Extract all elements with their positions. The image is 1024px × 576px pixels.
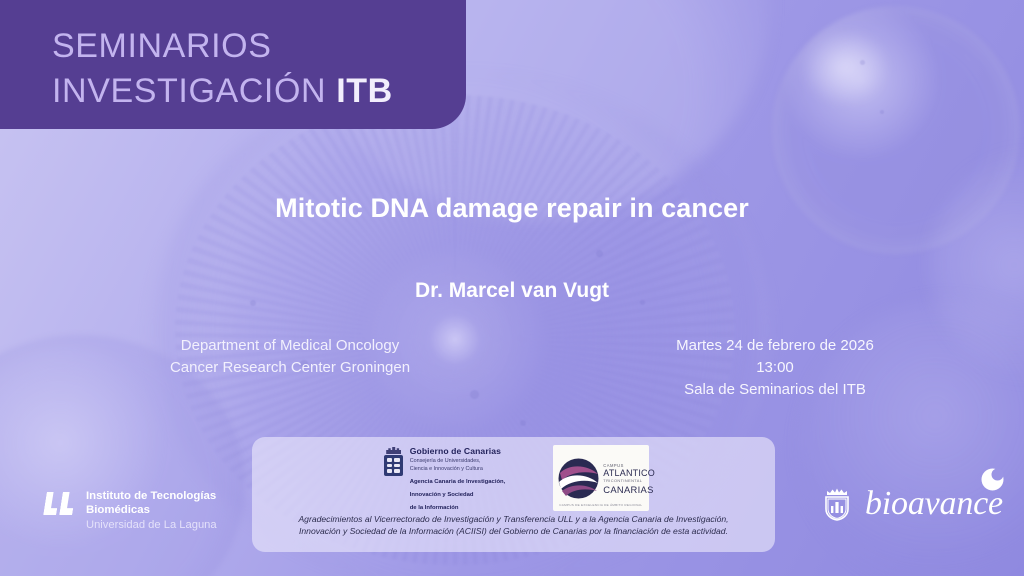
seminar-series-banner: SEMINARIOS INVESTIGACIÓN ITB <box>0 0 466 129</box>
seminar-date: Martes 24 de febrero de 2026 <box>560 335 990 357</box>
itb-text-block: Instituto de Tecnologías Biomédicas Univ… <box>86 489 217 533</box>
campus-line-3: TRICONTINENTAL <box>603 478 655 483</box>
acknowledgement-panel: Gobierno de Canarias Consejería de Unive… <box>252 437 775 552</box>
gobierno-subtitle-2: Ciencia e Innovación y Cultura <box>410 466 506 472</box>
crown-icon <box>386 447 401 454</box>
itb-logo: Instituto de Tecnologías Biomédicas Univ… <box>45 489 217 533</box>
banner-line-2-regular: INVESTIGACIÓN <box>52 72 336 110</box>
bioavance-crescent-icon <box>980 465 1005 490</box>
bioavance-logo: bioavance <box>823 487 1003 521</box>
gobierno-subtitle-1: Consejería de Universidades, <box>410 458 506 464</box>
acknowledgement-line-2: Innovación y Sociedad de la Información … <box>266 525 761 537</box>
gobierno-agency-1: Agencia Canaria de Investigación, <box>410 479 506 486</box>
itb-line-3: Universidad de La Laguna <box>86 518 217 533</box>
gobierno-de-canarias-logo: Gobierno de Canarias Consejería de Unive… <box>378 445 506 512</box>
gobierno-agency-3: de la Información <box>410 505 506 512</box>
acknowledgement-text: Agradecimientos al Vicerrectorado de Inv… <box>266 513 761 538</box>
background-speck <box>470 390 479 399</box>
affiliation-line-2: Cancer Research Center Groningen <box>75 357 505 379</box>
gobierno-agency-2: Innovación y Sociedad <box>410 492 506 499</box>
itb-line-1: Instituto de Tecnologías <box>86 489 217 503</box>
background-speck <box>880 110 884 114</box>
funder-logos: Gobierno de Canarias Consejería de Unive… <box>252 437 775 512</box>
banner-line-1: SEMINARIOS <box>52 24 466 69</box>
seminar-time: 13:00 <box>560 357 990 379</box>
shield-icon <box>384 455 403 476</box>
campus-wave-emblem-icon <box>558 458 599 499</box>
background-speck <box>860 60 865 65</box>
bioavance-wordmark: bioavance <box>865 487 1003 521</box>
banner-line-2: INVESTIGACIÓN ITB <box>52 69 466 114</box>
campus-footer-text: CAMPUS DE EXCELENCIA DE ÁMBITO REGIONAL <box>559 503 642 507</box>
itb-line-2: Biomédicas <box>86 503 217 517</box>
gobierno-crest-icon <box>384 445 404 512</box>
speaker-affiliation: Department of Medical Oncology Cancer Re… <box>75 335 505 379</box>
gobierno-title: Gobierno de Canarias <box>410 446 506 456</box>
campus-line-2: ATLANTICO <box>603 468 655 478</box>
gobierno-text-block: Gobierno de Canarias Consejería de Unive… <box>410 445 506 512</box>
seminar-title: Mitotic DNA damage repair in cancer <box>0 193 1024 224</box>
seminar-venue: Sala de Seminarios del ITB <box>560 379 990 401</box>
campus-atlantico-logo: CAMPUS ATLANTICO TRICONTINENTAL CANARIAS… <box>553 445 649 511</box>
affiliation-line-1: Department of Medical Oncology <box>75 335 505 357</box>
acknowledgement-line-1: Agradecimientos al Vicerrectorado de Inv… <box>266 513 761 525</box>
background-speck <box>596 250 603 257</box>
itb-mark-icon <box>45 489 74 515</box>
seminar-schedule: Martes 24 de febrero de 2026 13:00 Sala … <box>560 335 990 401</box>
campus-text-block: CAMPUS ATLANTICO TRICONTINENTAL CANARIAS <box>603 462 655 495</box>
background-bubble-highlight <box>800 28 890 106</box>
background-speck <box>520 420 526 426</box>
ull-crest-icon <box>823 487 851 521</box>
campus-line-4: CANARIAS <box>603 484 655 495</box>
seminar-speaker: Dr. Marcel van Vugt <box>0 279 1024 303</box>
banner-line-2-bold: ITB <box>336 72 393 110</box>
